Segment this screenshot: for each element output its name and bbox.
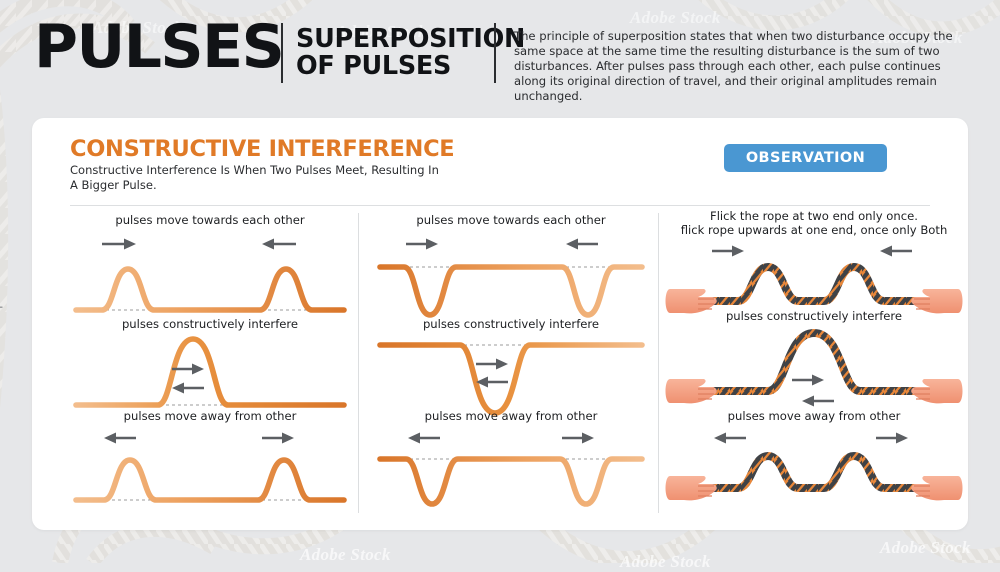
arrow-left-icon xyxy=(172,383,204,394)
panel-pulses-towards-upward: pulses move towards each other xyxy=(62,213,358,324)
arrow-left-icon xyxy=(476,377,508,388)
arrow-left-icon xyxy=(104,433,136,444)
page-title: PULSES xyxy=(34,17,283,77)
panel-caption-line2: flick rope upwards at one end, once only… xyxy=(681,223,948,237)
hand-right-icon xyxy=(911,379,962,403)
horizontal-divider xyxy=(70,205,930,206)
hand-left-icon xyxy=(666,476,717,500)
arrow-left-icon xyxy=(880,246,912,257)
arrow-left-icon xyxy=(408,433,440,444)
rope-path xyxy=(694,267,932,301)
content-card: CONSTRUCTIVE INTERFERENCE Constructive I… xyxy=(32,118,968,530)
arrow-right-icon xyxy=(476,359,508,370)
page-subtitle: SUPERPOSITION OF PULSES xyxy=(296,26,525,80)
watermark-side-id: Adobe Stock | #775887305 xyxy=(0,218,2,399)
panel-pulses-towards-inverted: pulses move towards each other xyxy=(364,213,658,324)
arrow-right-icon xyxy=(406,239,438,250)
panel-caption: pulses move away from other xyxy=(364,409,658,423)
page-subtitle-line1: SUPERPOSITION xyxy=(296,26,525,53)
panel-pulses-interfere-upward: pulses constructively interfere xyxy=(62,317,358,419)
panel-rope-interfere: pulses constructively interfere xyxy=(664,309,964,415)
watermark-tile: Adobe Stock xyxy=(620,552,711,572)
hand-right-icon xyxy=(911,476,962,500)
arrow-left-icon xyxy=(802,396,834,407)
panel-pulses-interfere-inverted: pulses constructively interfere xyxy=(364,317,658,419)
title-divider-2 xyxy=(494,23,496,83)
arrow-left-icon xyxy=(714,433,746,444)
arrow-right-icon xyxy=(792,375,824,386)
panel-caption-line1: Flick the rope at two end only once. xyxy=(710,209,918,223)
arrow-right-icon xyxy=(562,433,594,444)
arrow-left-icon xyxy=(262,239,296,250)
arrow-right-icon xyxy=(102,239,136,250)
panel-caption: pulses constructively interfere xyxy=(664,309,964,323)
panel-pulses-away-upward: pulses move away from other xyxy=(62,409,358,512)
column-rope-observation: Flick the rope at two end only once. fli… xyxy=(664,213,964,523)
arrow-left-icon xyxy=(566,239,598,250)
panel-pulses-away-inverted: pulses move away from other xyxy=(364,409,658,512)
panel-rope-towards: Flick the rope at two end only once. fli… xyxy=(664,209,964,321)
panel-caption: pulses move away from other xyxy=(664,409,964,423)
arrow-right-icon xyxy=(262,433,294,444)
page-header: PULSES SUPERPOSITION OF PULSES The princ… xyxy=(0,0,1000,112)
column-divider-2 xyxy=(658,213,659,513)
panel-caption: pulses constructively interfere xyxy=(62,317,358,331)
panel-rope-away: pulses move away from other xyxy=(664,409,964,512)
section-title: CONSTRUCTIVE INTERFERENCE xyxy=(70,136,454,162)
watermark-tile: Adobe Stock xyxy=(300,545,391,565)
panel-caption: pulses move towards each other xyxy=(364,213,658,227)
hand-left-icon xyxy=(666,379,717,403)
rope-path xyxy=(694,456,932,488)
arrow-right-icon xyxy=(712,246,744,257)
title-divider-1 xyxy=(281,23,283,83)
column-upward-pulses: pulses move towards each other pulses co… xyxy=(62,213,358,523)
panel-caption: pulses move towards each other xyxy=(62,213,358,227)
header-description: The principle of superposition states th… xyxy=(514,29,958,104)
arrow-right-icon xyxy=(876,433,908,444)
column-divider-1 xyxy=(358,213,359,513)
section-subtitle: Constructive Interference Is When Two Pu… xyxy=(70,163,450,193)
panel-caption: pulses move away from other xyxy=(62,409,358,423)
observation-badge[interactable]: OBSERVATION xyxy=(724,144,887,172)
page-subtitle-line2: OF PULSES xyxy=(296,53,525,80)
column-inverted-pulses: pulses move towards each other pulses co… xyxy=(364,213,658,523)
panel-caption: Flick the rope at two end only once. fli… xyxy=(664,209,964,237)
panel-caption: pulses constructively interfere xyxy=(364,317,658,331)
watermark-tile: Adobe Stock xyxy=(880,538,971,558)
